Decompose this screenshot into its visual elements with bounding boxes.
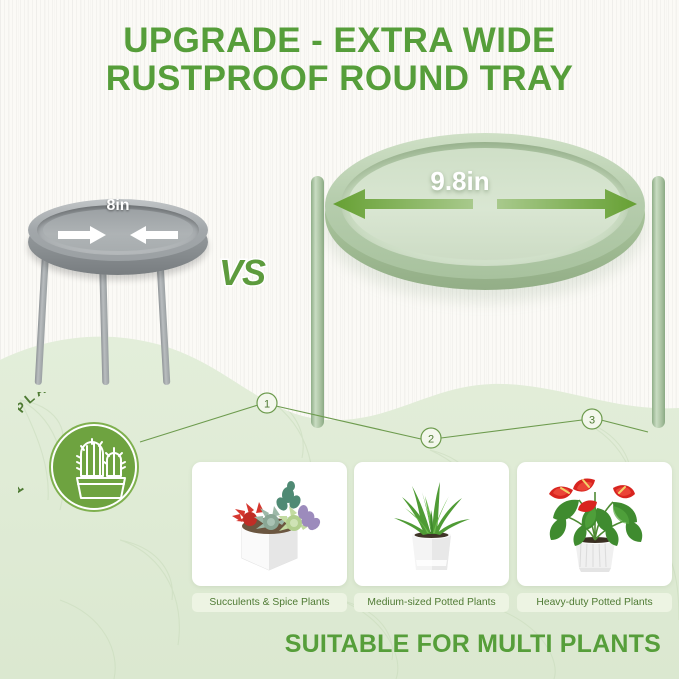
versus-label: VS xyxy=(219,252,265,294)
plant-card-label-2: Medium-sized Potted Plants xyxy=(354,593,509,612)
old-dimension-arrows xyxy=(28,223,208,247)
new-product-green-tray-table: 9.8in xyxy=(300,128,679,390)
plant-card-label-1: Succulents & Spice Plants xyxy=(192,593,347,612)
plant-card-succulents[interactable]: succulent-arrangement-hex-pot xyxy=(192,462,347,586)
plant-card-medium-potted[interactable]: aloe-plant-round-pot xyxy=(354,462,509,586)
old-dimension-label: 8in xyxy=(28,197,208,215)
headline-line-2: RUSTPROOF ROUND TRAY xyxy=(0,60,679,98)
anthurium-plant-icon xyxy=(517,462,672,586)
headline-line-1: UPGRADE - EXTRA WIDE xyxy=(0,22,679,60)
footer-tagline: SUITABLE FOR MULTI PLANTS xyxy=(0,630,679,659)
plant-card-label-3: Heavy-duty Potted Plants xyxy=(517,593,672,612)
headline-block: UPGRADE - EXTRA WIDE RUSTPROOF ROUND TRA… xyxy=(0,22,679,98)
callout-number-3: 3 xyxy=(589,415,595,427)
callout-number-1: 1 xyxy=(264,399,270,411)
plant-card-group: succulent-arrangement-hex-pot xyxy=(0,462,679,622)
new-dimension-label: 9.8in xyxy=(300,166,620,197)
old-product-gray-tray-table: 8in xyxy=(28,195,208,385)
aloe-plant-icon xyxy=(354,462,509,586)
callout-number-2: 2 xyxy=(428,434,434,446)
succulent-arrangement-icon xyxy=(192,462,347,586)
plant-card-heavy-duty[interactable]: anthurium-red-flowers-ribbed-pot xyxy=(517,462,672,586)
infographic-canvas: UPGRADE - EXTRA WIDE RUSTPROOF ROUND TRA… xyxy=(0,0,679,679)
